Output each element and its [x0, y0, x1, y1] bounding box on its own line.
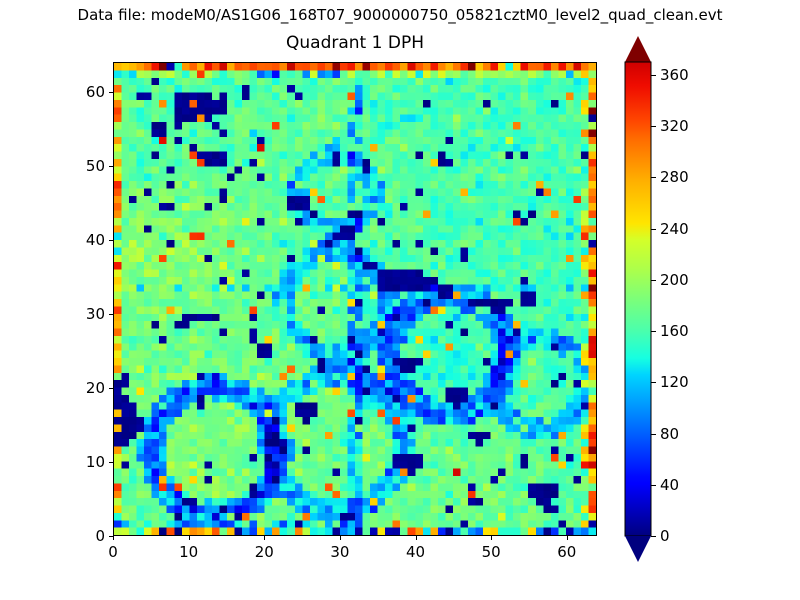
axes-title: Quadrant 1 DPH: [113, 33, 597, 53]
x-tick-mark: [113, 536, 114, 540]
x-tick-label: 20: [255, 543, 274, 561]
y-tick-label: 30: [63, 305, 105, 323]
y-tick-mark: [109, 536, 113, 537]
x-tick-mark: [567, 536, 568, 540]
colorbar-tick-label: 80: [660, 425, 679, 443]
colorbar-tick-label: 120: [660, 373, 689, 391]
x-tick-label: 0: [108, 543, 118, 561]
x-tick-label: 50: [482, 543, 501, 561]
colorbar-tick-mark: [651, 280, 656, 281]
colorbar-tick-label: 40: [660, 476, 679, 494]
x-tick-mark: [264, 536, 265, 540]
x-tick-mark: [340, 536, 341, 540]
y-tick-mark: [109, 92, 113, 93]
dph-heatmap-canvas: [114, 63, 596, 535]
data-file-suptitle: Data file: modeM0/AS1G06_168T07_90000007…: [0, 6, 800, 24]
y-tick-mark: [109, 314, 113, 315]
y-tick-mark: [109, 240, 113, 241]
colorbar-extend-top-arrow: [625, 36, 651, 62]
y-tick-label: 60: [63, 83, 105, 101]
colorbar-tick-label: 360: [660, 66, 689, 84]
colorbar-body: [625, 62, 651, 536]
colorbar-tick-label: 0: [660, 527, 670, 545]
y-tick-label: 10: [63, 453, 105, 471]
y-tick-label: 20: [63, 379, 105, 397]
colorbar-tick-mark: [651, 177, 656, 178]
colorbar-gradient: [624, 36, 652, 562]
x-tick-label: 60: [557, 543, 576, 561]
x-tick-label: 10: [179, 543, 198, 561]
matplotlib-figure: Data file: modeM0/AS1G06_168T07_90000007…: [0, 0, 800, 600]
x-tick-mark: [491, 536, 492, 540]
x-tick-mark: [189, 536, 190, 540]
colorbar-extend-bottom-arrow: [625, 536, 651, 562]
colorbar-tick-label: 200: [660, 271, 689, 289]
colorbar-tick-mark: [651, 536, 656, 537]
colorbar-tick-mark: [651, 434, 656, 435]
colorbar-tick-mark: [651, 485, 656, 486]
x-tick-label: 30: [330, 543, 349, 561]
colorbar-tick-label: 280: [660, 168, 689, 186]
colorbar-tick-mark: [651, 229, 656, 230]
y-tick-label: 0: [63, 527, 105, 545]
y-tick-label: 50: [63, 157, 105, 175]
colorbar-tick-mark: [651, 331, 656, 332]
y-tick-mark: [109, 166, 113, 167]
dph-image-axes: [113, 62, 597, 536]
colorbar: 04080120160200240280320360: [625, 62, 651, 536]
colorbar-tick-mark: [651, 75, 656, 76]
colorbar-tick-label: 240: [660, 220, 689, 238]
colorbar-tick-mark: [651, 382, 656, 383]
y-tick-label: 40: [63, 231, 105, 249]
colorbar-tick-label: 320: [660, 117, 689, 135]
y-tick-mark: [109, 462, 113, 463]
y-tick-mark: [109, 388, 113, 389]
x-tick-label: 40: [406, 543, 425, 561]
colorbar-tick-label: 160: [660, 322, 689, 340]
colorbar-tick-mark: [651, 126, 656, 127]
x-tick-mark: [416, 536, 417, 540]
